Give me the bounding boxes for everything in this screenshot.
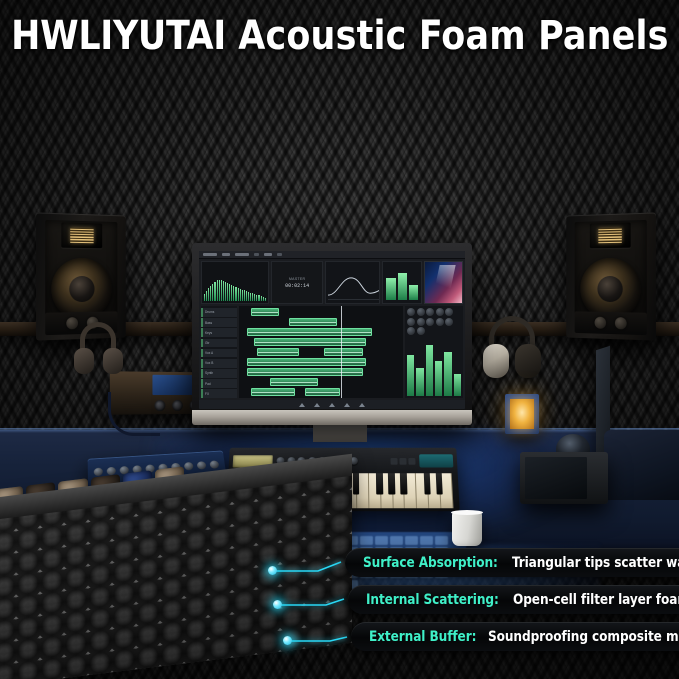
track-lane[interactable] bbox=[241, 368, 401, 376]
audio-clip[interactable] bbox=[247, 358, 365, 366]
eq-panel[interactable] bbox=[325, 261, 380, 304]
drum-pad-icon bbox=[399, 458, 406, 465]
menu-item-icon[interactable] bbox=[277, 253, 282, 256]
track-name: Keys bbox=[205, 331, 212, 335]
headphone-earcup bbox=[103, 348, 123, 374]
mixer-fader-group[interactable] bbox=[407, 337, 461, 396]
audio-clip[interactable] bbox=[251, 388, 296, 396]
lantern-glass bbox=[510, 399, 534, 429]
mixer-knob-icon[interactable] bbox=[417, 327, 425, 335]
piano-black-key bbox=[353, 473, 360, 494]
playhead[interactable] bbox=[341, 306, 342, 398]
spectrum-bar bbox=[233, 286, 234, 301]
brand-name: HWLIYUTAI bbox=[11, 13, 226, 59]
mixer-fader[interactable] bbox=[407, 355, 414, 396]
daw-status-bar[interactable] bbox=[199, 400, 465, 409]
track-header[interactable]: Bass bbox=[201, 318, 237, 327]
arrangement-timeline[interactable] bbox=[239, 306, 403, 398]
spectrum-bar bbox=[223, 281, 224, 301]
audio-clip[interactable] bbox=[289, 318, 337, 326]
product-name: Acoustic Foam Panels bbox=[238, 13, 668, 59]
daw-top-panels: MASTER 00:02:14 bbox=[199, 259, 465, 306]
spectrum-bar bbox=[263, 297, 264, 301]
callout-label: Surface Absorption: bbox=[363, 555, 498, 571]
camera-field-monitor bbox=[520, 452, 608, 504]
spectrum-bar bbox=[217, 280, 218, 301]
callout-surface-absorption[interactable]: Surface Absorption: Triangular tips scat… bbox=[345, 548, 679, 577]
piano-white-key bbox=[369, 473, 381, 508]
audio-cable bbox=[108, 392, 160, 436]
product-infographic: HWLIYUTAI Acoustic Foam Panels bbox=[0, 0, 679, 679]
output-meter-bar bbox=[386, 278, 395, 300]
mixer-fader[interactable] bbox=[416, 368, 423, 396]
spectrum-bar bbox=[246, 291, 247, 301]
piano-white-key bbox=[416, 473, 429, 508]
studio-monitor-speaker-right bbox=[566, 212, 656, 340]
marker-icon[interactable] bbox=[344, 403, 350, 407]
menu-item-icon[interactable] bbox=[264, 253, 272, 256]
audio-clip[interactable] bbox=[251, 308, 280, 316]
keyboard-key bbox=[405, 536, 418, 545]
marker-icon[interactable] bbox=[314, 403, 320, 407]
mixer-knob-icon[interactable] bbox=[407, 327, 415, 335]
track-lane[interactable] bbox=[241, 308, 401, 316]
audio-clip[interactable] bbox=[254, 338, 366, 346]
track-name: Gtr bbox=[205, 341, 209, 345]
track-name: FX bbox=[205, 392, 209, 396]
spectrum-analyzer bbox=[201, 261, 269, 304]
mixer-fader[interactable] bbox=[454, 374, 461, 396]
control-knob-icon bbox=[184, 462, 194, 471]
keyboard-key bbox=[375, 536, 388, 545]
spectrum-bar bbox=[250, 293, 251, 302]
mixer-knob-icon[interactable] bbox=[445, 308, 453, 316]
equipment-bag bbox=[604, 430, 679, 500]
callout-label: External Buffer: bbox=[369, 629, 476, 645]
track-name: Pad bbox=[205, 382, 211, 386]
spectrum-bar bbox=[206, 291, 207, 301]
camera-screen bbox=[525, 457, 587, 499]
spectrum-bar bbox=[248, 292, 249, 301]
mixer-knob-icon[interactable] bbox=[417, 318, 425, 326]
spectrum-bar bbox=[265, 298, 266, 301]
control-knob-icon bbox=[209, 460, 219, 468]
headphone-earcup bbox=[483, 344, 509, 378]
keyboard-key bbox=[420, 536, 433, 545]
track-header[interactable]: Vox A bbox=[201, 349, 237, 358]
mixer-knob-grid[interactable] bbox=[407, 308, 461, 335]
track-header[interactable]: Drums bbox=[201, 308, 237, 317]
keyboard-key bbox=[360, 536, 373, 545]
monitor-stand bbox=[313, 424, 367, 442]
spectrum-bar bbox=[210, 286, 211, 301]
keyboard-key bbox=[390, 536, 403, 545]
track-lane[interactable] bbox=[241, 388, 401, 396]
spectrum-bar bbox=[258, 295, 259, 301]
mixer-knob-icon[interactable] bbox=[407, 308, 415, 316]
accessory-case bbox=[419, 454, 453, 467]
track-header[interactable]: Synth bbox=[201, 369, 237, 378]
track-header[interactable]: Pad bbox=[201, 379, 237, 388]
desk-lantern bbox=[505, 394, 539, 434]
spectrum-bar bbox=[225, 282, 226, 301]
marker-icon[interactable] bbox=[359, 403, 365, 407]
spectrum-bar bbox=[221, 280, 222, 301]
track-header[interactable]: Keys bbox=[201, 328, 237, 337]
spectrum-bar bbox=[235, 287, 236, 301]
spectrum-bar bbox=[252, 293, 253, 301]
callout-external-buffer[interactable]: External Buffer: Soundproofing composite… bbox=[351, 622, 679, 651]
transport-time: 00:02:14 bbox=[285, 283, 309, 289]
marker-icon[interactable] bbox=[329, 403, 335, 407]
piano-black-key bbox=[424, 473, 431, 494]
track-name: Drums bbox=[205, 310, 214, 314]
ribbon-tweeter-icon bbox=[590, 222, 631, 248]
output-meters bbox=[382, 261, 422, 304]
track-header[interactable]: Gtr bbox=[201, 339, 237, 348]
drum-pad-icon bbox=[408, 458, 415, 465]
keyboard-key bbox=[435, 536, 448, 545]
mixer-fader[interactable] bbox=[435, 361, 442, 396]
coffee-cup bbox=[452, 512, 482, 546]
mixer-knob-icon[interactable] bbox=[426, 318, 434, 326]
menu-item-icon[interactable] bbox=[203, 253, 217, 256]
track-lane[interactable] bbox=[241, 348, 401, 356]
track-header-list[interactable]: DrumsBassKeysGtrVox AVox BSynthPadFX bbox=[201, 306, 237, 398]
spectrum-bar bbox=[256, 295, 257, 301]
track-lane[interactable] bbox=[241, 328, 401, 336]
audio-clip[interactable] bbox=[247, 368, 362, 376]
mixer-panel[interactable] bbox=[405, 306, 463, 398]
video-thumbnail[interactable] bbox=[424, 261, 463, 304]
track-header[interactable]: FX bbox=[201, 389, 237, 398]
spectrum-bar bbox=[204, 294, 205, 301]
page-title: HWLIYUTAI Acoustic Foam Panels bbox=[11, 13, 668, 59]
piano-black-key bbox=[400, 473, 407, 494]
piano-black-key bbox=[388, 473, 395, 494]
menu-item-icon[interactable] bbox=[254, 253, 259, 256]
header-banner: HWLIYUTAI Acoustic Foam Panels bbox=[0, 0, 679, 72]
keyboard-pad-row bbox=[391, 458, 416, 465]
mixer-knob-icon[interactable] bbox=[426, 308, 434, 316]
track-name: Vox B bbox=[205, 361, 213, 365]
spectrum-bar bbox=[261, 296, 262, 301]
mixer-fader[interactable] bbox=[444, 352, 451, 396]
spectrum-bar bbox=[219, 280, 220, 301]
control-knob-icon bbox=[94, 468, 103, 477]
track-name: Bass bbox=[205, 321, 212, 325]
audio-clip[interactable] bbox=[257, 348, 299, 356]
audio-clip[interactable] bbox=[247, 328, 372, 336]
xlr-jack-icon bbox=[172, 400, 183, 411]
transport-panel[interactable]: MASTER 00:02:14 bbox=[271, 261, 323, 304]
track-lane[interactable] bbox=[241, 338, 401, 346]
mixer-knob-icon[interactable] bbox=[436, 318, 444, 326]
eq-curve-icon bbox=[328, 274, 380, 300]
spectrum-bar bbox=[214, 282, 215, 301]
spectrum-bar bbox=[208, 288, 209, 301]
mixer-knob-icon[interactable] bbox=[436, 308, 444, 316]
spectrum-bar bbox=[238, 288, 239, 301]
drum-pad-icon bbox=[391, 458, 398, 465]
track-header[interactable]: Vox B bbox=[201, 359, 237, 368]
callout-label: Internal Scattering: bbox=[366, 592, 499, 608]
headphones-right bbox=[483, 316, 541, 388]
spectrum-bar bbox=[231, 285, 232, 301]
speaker-port bbox=[575, 311, 647, 335]
spectrum-bar bbox=[242, 290, 243, 301]
spectrum-bar bbox=[229, 284, 230, 301]
audio-clip[interactable] bbox=[270, 378, 318, 386]
output-meter-bar bbox=[409, 285, 418, 300]
callout-text: Soundproofing composite material bbox=[488, 629, 679, 645]
callout-text: Open-cell filter layer foam bbox=[513, 592, 679, 608]
callout-text: Triangular tips scatter waves bbox=[512, 555, 679, 571]
track-lane[interactable] bbox=[241, 358, 401, 366]
piano-black-key bbox=[435, 473, 442, 494]
mixer-knob-icon[interactable] bbox=[417, 308, 425, 316]
ribbon-tweeter-icon bbox=[61, 222, 102, 248]
spectrum-bar bbox=[254, 294, 255, 301]
mixer-fader[interactable] bbox=[426, 345, 433, 396]
daw-menu-bar[interactable] bbox=[199, 251, 465, 259]
callout-internal-scattering[interactable]: Internal Scattering: Open-cell filter la… bbox=[348, 585, 679, 614]
track-lane[interactable] bbox=[241, 318, 401, 326]
mixer-knob-icon[interactable] bbox=[407, 318, 415, 326]
spectrum-bar bbox=[227, 283, 228, 301]
headphone-earcup bbox=[74, 348, 94, 374]
headphones-left bbox=[72, 322, 126, 384]
daw-screen[interactable]: MASTER 00:02:14 DrumsBassKeysGtrVox AVox… bbox=[199, 251, 465, 409]
gain-knob-icon bbox=[614, 317, 626, 329]
spectrum-bar bbox=[244, 290, 245, 301]
computer-display: MASTER 00:02:14 DrumsBassKeysGtrVox AVox… bbox=[192, 243, 472, 425]
audio-clip[interactable] bbox=[324, 348, 362, 356]
marker-icon[interactable] bbox=[299, 403, 305, 407]
audio-clip[interactable] bbox=[305, 388, 340, 396]
volume-knob-icon bbox=[594, 317, 606, 329]
control-knob-icon bbox=[197, 461, 207, 469]
headphone-earcup bbox=[515, 344, 541, 378]
monitor-bezel-chin bbox=[192, 410, 472, 425]
mixer-knob-icon[interactable] bbox=[445, 318, 453, 326]
track-name: Synth bbox=[205, 371, 213, 375]
transport-label: MASTER bbox=[289, 277, 305, 281]
menu-item-icon[interactable] bbox=[235, 253, 249, 256]
spectrum-bar bbox=[240, 289, 241, 301]
spectrum-bar bbox=[212, 284, 213, 301]
menu-item-icon[interactable] bbox=[222, 253, 230, 256]
track-lane[interactable] bbox=[241, 378, 401, 386]
output-meter-bar bbox=[398, 273, 407, 300]
daw-main-area: DrumsBassKeysGtrVox AVox BSynthPadFX bbox=[199, 306, 465, 400]
piano-black-key bbox=[376, 473, 383, 494]
track-name: Vox A bbox=[205, 351, 213, 355]
